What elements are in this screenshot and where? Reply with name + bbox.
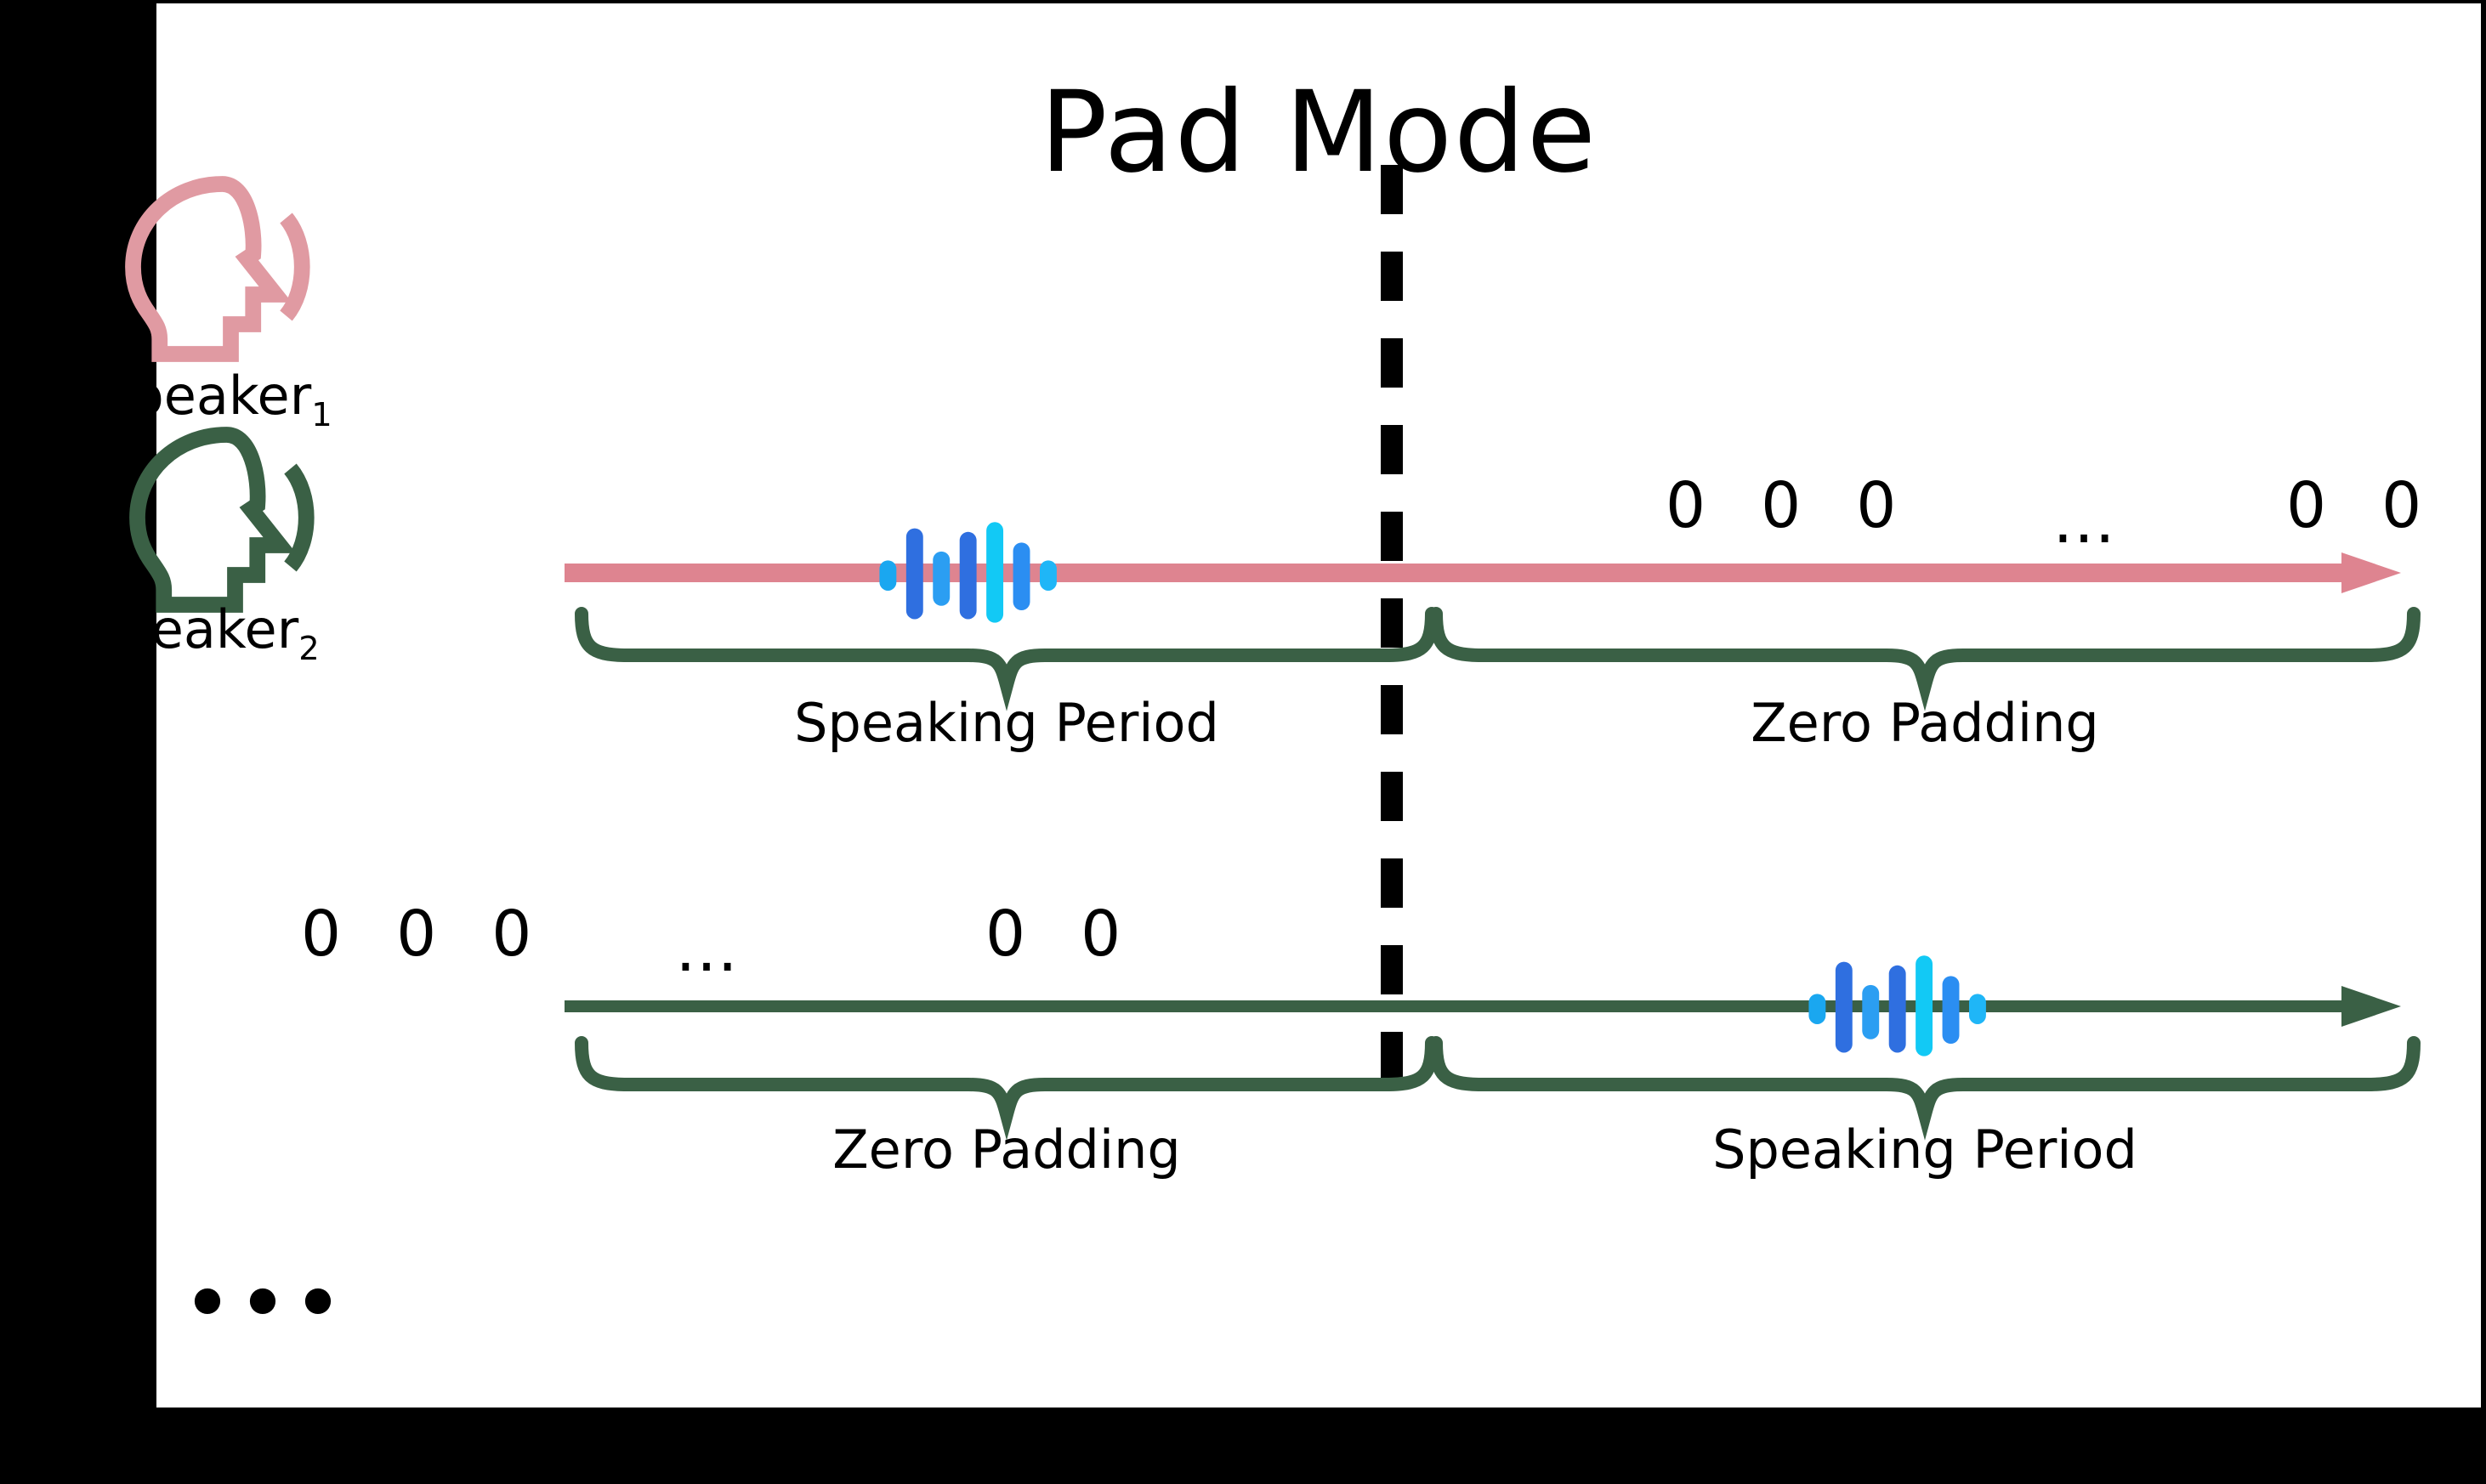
speaker-2-label: Speaker2 bbox=[84, 598, 314, 660]
more-speakers-ellipsis: ••• bbox=[152, 1261, 382, 1346]
speaker-2-name: Speaker bbox=[84, 598, 298, 660]
page-title: Pad Mode bbox=[156, 71, 2481, 195]
figure-frame: Pad Mode Speaker1 bbox=[0, 0, 2486, 1484]
speaker-2-padding-brace bbox=[573, 1036, 1440, 1121]
speaker-1-padding-label: Zero Padding bbox=[1427, 692, 2422, 754]
speaker-1-label: Speaker1 bbox=[97, 365, 326, 427]
speaker-1-speaking-brace bbox=[573, 607, 1440, 692]
speaker-1-head-icon bbox=[105, 178, 318, 360]
speaker-1-zeros-start: 0 0 0 bbox=[1666, 469, 1901, 542]
speaker-1-zeros-end: 0 0 0 bbox=[2286, 469, 2486, 542]
speaker-2-speaking-brace bbox=[1427, 1036, 2422, 1121]
speaker-2-zeros-end: 0 0 bbox=[985, 898, 1126, 971]
speaker-1-timeline-arrow bbox=[565, 547, 2409, 598]
speaker-2-timeline-arrow bbox=[565, 981, 2409, 1032]
speaker-2-index: 2 bbox=[298, 630, 319, 668]
speaker-2-head-icon bbox=[110, 428, 322, 611]
speaker-2-zeros-ellipsis: … bbox=[675, 913, 741, 986]
speaker-1-name: Speaker bbox=[97, 365, 311, 427]
speaker-1-padding-brace bbox=[1427, 607, 2422, 692]
speaker-1-zeros-ellipsis: … bbox=[2052, 484, 2119, 558]
speaker-2-speaking-label: Speaking Period bbox=[1427, 1119, 2422, 1181]
speaker-2-padding-label: Zero Padding bbox=[573, 1119, 1440, 1181]
figure-canvas: Pad Mode Speaker1 bbox=[156, 3, 2481, 1408]
speaker-1-speaking-label: Speaking Period bbox=[573, 692, 1440, 754]
speaker-2-zeros-start: 0 0 0 bbox=[301, 898, 536, 971]
